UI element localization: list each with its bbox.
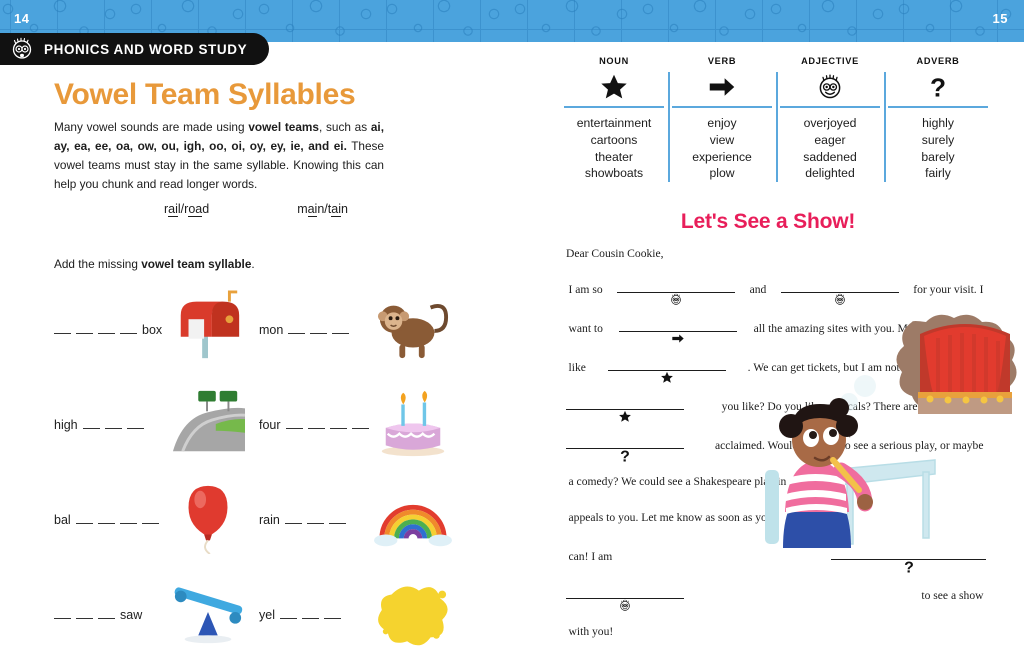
letter-answer-blank[interactable] — [781, 280, 899, 293]
exercise-prompt: box — [54, 322, 162, 337]
theater-stage-thought-bubble-illustration — [890, 304, 1024, 434]
letter-text: I am so — [566, 283, 605, 296]
word-bank-column: NOUNentertainmentcartoonstheatershowboat… — [560, 56, 668, 182]
section-tab: PHONICS AND WORD STUDY — [0, 33, 269, 65]
word-bank-word: enjoy — [672, 115, 772, 132]
example-2-mid: n/t — [317, 202, 331, 216]
exercise-grid: boxmonhighfourbalrainsawyel — [46, 292, 466, 649]
exercise-list: boxmonhighfourbalrainsawyel — [46, 292, 466, 649]
letter-text: can! I am — [566, 550, 615, 563]
part-of-speech-hint: ? — [900, 558, 917, 574]
exercise-prompt: four — [259, 417, 369, 432]
letter-text: appeals to you. Let me know as soon as y… — [566, 511, 775, 524]
section-tab-label: PHONICS AND WORD STUDY — [44, 42, 247, 57]
letter-text: like — [566, 361, 588, 374]
answer-blank[interactable] — [98, 607, 115, 619]
exercise-item: mon — [251, 292, 456, 364]
example-word-2: main/tain — [297, 202, 348, 216]
word-bank-word: theater — [564, 149, 664, 166]
answer-blank[interactable] — [332, 322, 349, 334]
answer-blank[interactable] — [105, 417, 122, 429]
word-bank-rule — [672, 106, 772, 108]
smiley-face-icon — [833, 293, 846, 306]
exercise-prompt: yel — [259, 607, 341, 622]
letter-answer-blank[interactable] — [566, 586, 684, 599]
letter-answer-blank[interactable]: ? — [566, 436, 684, 449]
monkey-icon — [374, 290, 452, 364]
letter-answer-blank[interactable] — [619, 319, 737, 332]
exercise-prefix: bal — [54, 513, 71, 527]
page-number-left: 14 — [14, 11, 29, 26]
part-of-speech-hint — [672, 330, 685, 346]
answer-blank[interactable] — [120, 322, 137, 334]
answer-blank[interactable] — [352, 417, 369, 429]
exercise-prefix: mon — [259, 323, 283, 337]
word-bank-rule — [780, 106, 880, 108]
left-page: Vowel Team Syllables Many vowel sounds a… — [0, 42, 512, 663]
word-bank-word: plow — [672, 165, 772, 182]
word-bank-word: barely — [888, 149, 988, 166]
answer-blank[interactable] — [280, 607, 297, 619]
word-bank-word: cartoons — [564, 132, 664, 149]
answer-blank[interactable] — [76, 322, 93, 334]
example-1-team-1: ai — [168, 202, 178, 217]
exercise-prompt: mon — [259, 322, 349, 337]
exercise-prefix: rain — [259, 513, 280, 527]
answer-blank[interactable] — [127, 417, 144, 429]
page-number-right: 15 — [993, 11, 1008, 26]
answer-blank[interactable] — [307, 512, 324, 524]
exercise-item: rain — [251, 482, 456, 554]
example-words: rail/road main/tain — [54, 202, 384, 216]
word-bank-word: delighted — [780, 165, 880, 182]
word-bank-word: surely — [888, 132, 988, 149]
star-icon — [619, 410, 632, 423]
part-of-speech-hint — [619, 597, 632, 613]
word-bank-heading: NOUN — [564, 56, 664, 66]
answer-blank[interactable] — [142, 512, 159, 524]
exercise-item: high — [46, 387, 251, 459]
part-of-speech-hint — [670, 291, 683, 307]
svg-text:?: ? — [930, 73, 946, 101]
example-1-post: d — [202, 202, 209, 216]
answer-blank[interactable] — [324, 607, 341, 619]
directions: Add the missing vowel team syllable. — [54, 257, 255, 271]
exercise-item: bal — [46, 482, 251, 554]
right-page: NOUNentertainmentcartoonstheatershowboat… — [512, 42, 1024, 663]
page-title: Vowel Team Syllables — [54, 78, 355, 112]
letter-text: to see a show — [919, 589, 986, 602]
answer-blank[interactable] — [329, 512, 346, 524]
smiley-face-icon — [670, 293, 683, 306]
letter-text: for your visit. I — [911, 283, 986, 296]
question-mark-icon: ? — [924, 73, 952, 101]
word-bank-icon-wrap — [780, 70, 880, 104]
example-2-pre: m — [297, 202, 307, 216]
directions-c: . — [251, 257, 254, 271]
seesaw-icon — [169, 575, 247, 649]
answer-blank[interactable] — [54, 322, 71, 334]
exercise-item: box — [46, 292, 251, 364]
intro-paragraph: Many vowel sounds are made using vowel t… — [54, 118, 384, 194]
intro-line1-a: Many vowel sounds are made using — [54, 120, 248, 134]
letter-text: with you! — [566, 625, 616, 638]
intro-term-vowel-teams: vowel teams — [248, 120, 319, 134]
part-of-speech-hint — [660, 369, 673, 385]
word-bank-icon-wrap: ? — [888, 70, 988, 104]
rainbow-icon — [374, 480, 452, 554]
word-bank-columns: NOUNentertainmentcartoonstheatershowboat… — [560, 56, 992, 182]
answer-blank[interactable] — [286, 417, 303, 429]
exercise-suffix: saw — [120, 608, 142, 622]
arrow-right-icon — [672, 332, 685, 345]
smiley-face-icon — [619, 599, 632, 612]
exercise-prompt: rain — [259, 512, 346, 527]
word-bank-word: view — [672, 132, 772, 149]
word-bank-word: entertainment — [564, 115, 664, 132]
word-bank-heading: ADJECTIVE — [780, 56, 880, 66]
word-bank-icon-wrap — [672, 70, 772, 104]
answer-blank[interactable] — [330, 417, 347, 429]
example-word-1: rail/road — [164, 202, 209, 216]
directions-b: vowel team syllable — [141, 257, 251, 271]
word-bank-column: ADJECTIVEoverjoyedeagersaddeneddelighted — [776, 56, 884, 182]
intro-line1-c: , such as — [319, 120, 367, 134]
word-bank-word: eager — [780, 132, 880, 149]
example-1-team-2: oa — [188, 202, 202, 217]
directions-a: Add the missing — [54, 257, 141, 271]
example-2-team-1: ai — [308, 202, 318, 217]
mascot-face-icon — [10, 37, 34, 61]
mailbox-icon — [169, 290, 247, 364]
example-1-mid: l/r — [178, 202, 188, 216]
word-bank-heading: ADVERB — [888, 56, 988, 66]
part-of-speech-hint — [619, 408, 632, 424]
activity-title: Let's See a Show! — [512, 210, 1024, 234]
exercise-prefix: yel — [259, 608, 275, 622]
answer-blank[interactable] — [302, 607, 319, 619]
balloon-icon — [169, 480, 247, 554]
answer-blank[interactable] — [54, 607, 71, 619]
birthday-cake-icon — [374, 385, 452, 459]
word-bank-icon-wrap — [564, 70, 664, 104]
answer-blank[interactable] — [98, 512, 115, 524]
exercise-prompt: high — [54, 417, 144, 432]
word-bank-word: highly — [888, 115, 988, 132]
svg-text:?: ? — [620, 448, 630, 464]
letter-text: and — [747, 283, 769, 296]
answer-blank[interactable] — [120, 512, 137, 524]
part-of-speech-hint: ? — [617, 447, 634, 463]
exercise-prefix: high — [54, 418, 78, 432]
letter-answer-blank[interactable] — [617, 280, 735, 293]
word-bank-word: experience — [672, 149, 772, 166]
exercise-prompt: saw — [54, 607, 142, 622]
word-bank-rule — [564, 106, 664, 108]
exercise-suffix: box — [142, 323, 162, 337]
exercise-prefix: four — [259, 418, 281, 432]
exercise-item: saw — [46, 577, 251, 649]
word-bank-column: ADVERB?highlysurelybarelyfairly — [884, 56, 992, 182]
part-of-speech-hint — [833, 291, 846, 307]
answer-blank[interactable] — [98, 322, 115, 334]
letter-answer-blank[interactable] — [608, 358, 726, 371]
answer-blank[interactable] — [83, 417, 100, 429]
letter-line: I am soandfor your visit. I — [566, 280, 986, 296]
answer-blank[interactable] — [308, 417, 325, 429]
answer-blank[interactable] — [310, 322, 327, 334]
exercise-item: four — [251, 387, 456, 459]
answer-blank[interactable] — [76, 607, 93, 619]
word-bank-word: fairly — [888, 165, 988, 182]
workbook-spread: 14 15 PHONICS AND WORD STUDY Vowel Team … — [0, 0, 1024, 663]
word-bank-word: saddened — [780, 149, 880, 166]
answer-blank[interactable] — [288, 322, 305, 334]
exercise-item: yel — [251, 577, 456, 649]
yellow-splat-icon — [374, 575, 452, 649]
letter-line: to see a show — [566, 586, 986, 602]
arrow-right-icon — [708, 73, 736, 101]
word-bank-heading: VERB — [672, 56, 772, 66]
smiley-face-icon — [816, 73, 844, 101]
star-icon — [660, 371, 673, 384]
word-bank-column: VERBenjoyviewexperienceplow — [668, 56, 776, 182]
letter-line: with you! — [566, 625, 986, 638]
exercise-prompt: bal — [54, 512, 159, 527]
example-2-post: n — [341, 202, 348, 216]
word-bank-rule — [888, 106, 988, 108]
word-bank: NOUNentertainmentcartoonstheatershowboat… — [560, 56, 992, 182]
answer-blank[interactable] — [285, 512, 302, 524]
answer-blank[interactable] — [76, 512, 93, 524]
example-2-team-2: ai — [331, 202, 341, 217]
question-mark-icon: ? — [900, 558, 917, 575]
star-icon — [600, 73, 628, 101]
word-bank-word: overjoyed — [780, 115, 880, 132]
word-bank-word: showboats — [564, 165, 664, 182]
letter-salutation: Dear Cousin Cookie, — [566, 247, 986, 260]
svg-text:?: ? — [904, 559, 914, 575]
letter-answer-blank[interactable] — [566, 397, 684, 410]
question-mark-icon: ? — [617, 447, 634, 464]
highway-icon — [169, 385, 247, 459]
letter-text: want to — [566, 322, 605, 335]
